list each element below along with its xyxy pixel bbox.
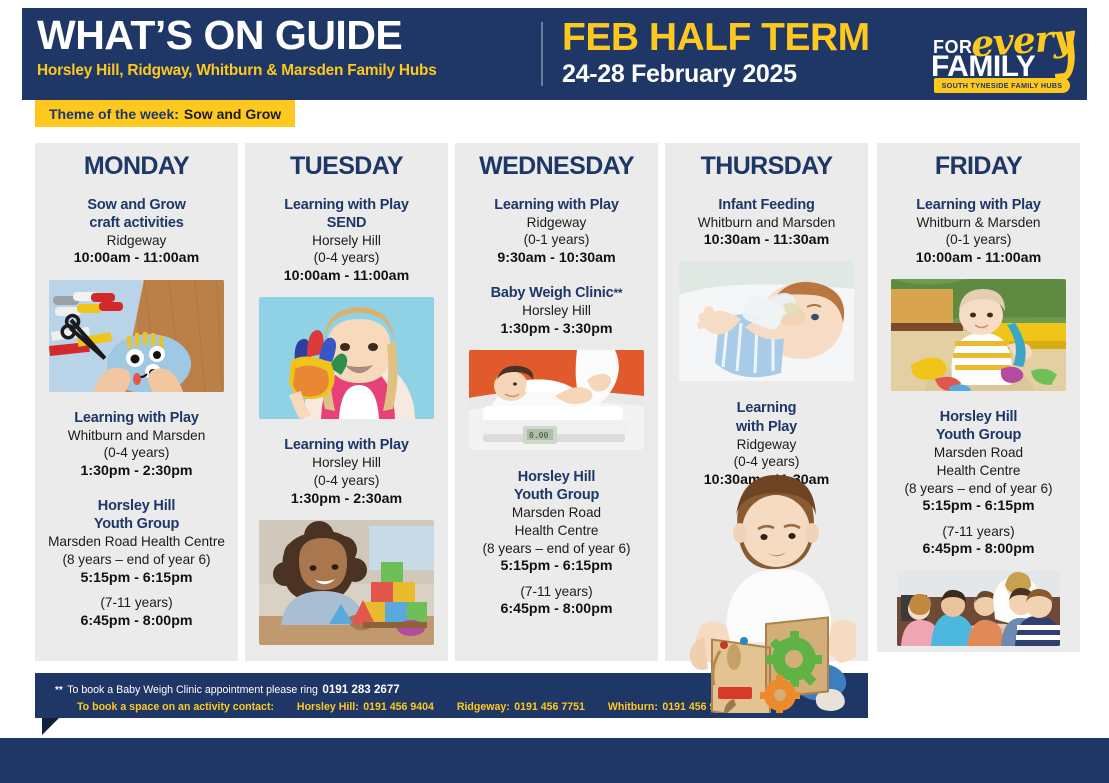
footer-line1-text: To book a Baby Weigh Clinic appointment … bbox=[67, 684, 318, 696]
event-time-2: 6:45pm - 8:00pm bbox=[41, 612, 232, 631]
theme-value: Sow and Grow bbox=[184, 106, 281, 122]
event-ages: (0-4 years) bbox=[251, 472, 442, 490]
day-column-thursday: THURSDAY Infant Feeding Whitburn and Mar… bbox=[665, 143, 868, 661]
event-ages: (0-1 years) bbox=[883, 231, 1074, 249]
event-venue: Horsley Hill bbox=[251, 454, 442, 472]
header-term-block: FEB HALF TERM 24-28 February 2025 bbox=[562, 18, 870, 89]
event-time-2: 6:45pm - 8:00pm bbox=[461, 600, 652, 619]
event-title: Learning with Play bbox=[251, 436, 442, 454]
footnote-marker: ** bbox=[613, 286, 622, 300]
photo-thursday-bottle-feeding bbox=[679, 261, 854, 381]
logo-ribbon-text: SOUTH TYNESIDE FAMILY HUBS bbox=[934, 78, 1070, 93]
event-time: 10:00am - 11:00am bbox=[883, 249, 1074, 268]
event-time: 1:30pm - 3:30pm bbox=[461, 320, 652, 339]
event-wednesday-3: Horsley HillYouth Group Marsden RoadHeal… bbox=[455, 468, 658, 619]
event-thursday-1: Infant Feeding Whitburn and Marsden 10:3… bbox=[665, 196, 868, 251]
day-column-monday: MONDAY Sow and Growcraft activities Ridg… bbox=[35, 143, 238, 661]
photo-tuesday-painted-hands bbox=[259, 297, 434, 419]
day-heading-thursday: THURSDAY bbox=[665, 153, 868, 181]
contact-name-whitburn: Whitburn: bbox=[608, 701, 658, 713]
event-time-2: 6:45pm - 8:00pm bbox=[883, 540, 1074, 559]
event-monday-3: Horsley HillYouth Group Marsden Road Hea… bbox=[35, 497, 238, 631]
event-tuesday-2: Learning with Play Horsley Hill (0-4 yea… bbox=[245, 436, 448, 509]
photo-friday-board-game bbox=[897, 571, 1060, 646]
footer-line-2: To book a space on an activity contact: … bbox=[77, 697, 733, 715]
photo-monday-craft bbox=[49, 280, 224, 392]
day-heading-tuesday: TUESDAY bbox=[245, 153, 448, 181]
event-venue: Ridgeway bbox=[461, 214, 652, 232]
event-venue: Whitburn & Marsden bbox=[883, 214, 1074, 232]
weekly-schedule-grid: MONDAY Sow and Growcraft activities Ridg… bbox=[0, 143, 1109, 673]
event-friday-2: Horsley HillYouth Group Marsden RoadHeal… bbox=[877, 408, 1080, 559]
photo-wednesday-baby-scale: 0.00 bbox=[469, 350, 644, 450]
event-venue: Marsden RoadHealth Centre bbox=[461, 504, 652, 539]
contact-phone-horsley-hill[interactable]: 0191 456 9404 bbox=[363, 701, 434, 713]
event-venue: Horsely Hill bbox=[251, 232, 442, 250]
event-time: 10:30am - 11:30am bbox=[671, 471, 862, 490]
theme-of-the-week-banner: Theme of the week: Sow and Grow bbox=[35, 100, 295, 127]
footer-contact-label: To book a space on an activity contact: bbox=[77, 701, 274, 713]
event-time: 10:30am - 11:30am bbox=[671, 231, 862, 250]
event-tuesday-1: Learning with PlaySEND Horsely Hill (0-4… bbox=[245, 196, 448, 287]
day-column-friday: FRIDAY Learning with Play Whitburn & Mar… bbox=[877, 143, 1080, 652]
poster-header: WHAT’S ON GUIDE Horsley Hill, Ridgway, W… bbox=[22, 8, 1087, 100]
term-dates: 24-28 February 2025 bbox=[562, 60, 870, 89]
term-title: FEB HALF TERM bbox=[562, 18, 870, 58]
event-venue: Marsden RoadHealth Centre bbox=[883, 444, 1074, 479]
footnote-marker: ** bbox=[55, 685, 63, 696]
event-title: Learning with Play bbox=[41, 409, 232, 427]
event-title: Sow and Growcraft activities bbox=[41, 196, 232, 232]
event-title: Learning with PlaySEND bbox=[251, 196, 442, 232]
event-time: 10:00am - 11:00am bbox=[251, 267, 442, 286]
event-time: 10:00am - 11:00am bbox=[41, 249, 232, 268]
day-heading-monday: MONDAY bbox=[35, 153, 238, 181]
event-time: 5:15pm - 6:15pm bbox=[41, 569, 232, 588]
header-left-block: WHAT’S ON GUIDE Horsley Hill, Ridgway, W… bbox=[37, 14, 532, 80]
event-ages: (0-4 years) bbox=[41, 444, 232, 462]
event-title: Learning with Play bbox=[461, 196, 652, 214]
header-subtitle: Horsley Hill, Ridgway, Whitburn & Marsde… bbox=[37, 62, 532, 80]
folded-corner-decoration bbox=[42, 718, 59, 735]
event-time: 5:15pm - 6:15pm bbox=[883, 497, 1074, 516]
event-ages-2: (7-11 years) bbox=[41, 594, 232, 612]
svg-text:0.00: 0.00 bbox=[529, 431, 548, 440]
contact-name-horsley-hill: Horsley Hill: bbox=[297, 701, 359, 713]
contact-name-ridgeway: Ridgeway: bbox=[457, 701, 510, 713]
event-thursday-2: Learningwith Play Ridgeway (0-4 years) 1… bbox=[665, 399, 868, 490]
event-title: Infant Feeding bbox=[671, 196, 862, 214]
event-title-text: Baby Weigh Clinic bbox=[491, 285, 614, 301]
baby-weigh-phone[interactable]: 0191 283 2677 bbox=[322, 683, 399, 696]
event-venue: Marsden Road Health Centre bbox=[41, 533, 232, 551]
event-time: 5:15pm - 6:15pm bbox=[461, 557, 652, 576]
theme-label: Theme of the week: bbox=[49, 106, 179, 122]
event-ages: (8 years – end of year 6) bbox=[883, 480, 1074, 498]
day-column-tuesday: TUESDAY Learning with PlaySEND Horsely H… bbox=[245, 143, 448, 661]
event-venue: Whitburn and Marsden bbox=[671, 214, 862, 232]
footer-line-1: ** To book a Baby Weigh Clinic appointme… bbox=[55, 680, 400, 698]
event-title: Learningwith Play bbox=[671, 399, 862, 435]
event-monday-1: Sow and Growcraft activities Ridgeway 10… bbox=[35, 196, 238, 269]
event-time: 9:30am - 10:30am bbox=[461, 249, 652, 268]
booking-info-footer: ** To book a Baby Weigh Clinic appointme… bbox=[35, 673, 868, 718]
for-every-family-logo: FOR every FAMILY SOUTH TYNESIDE FAMILY H… bbox=[927, 18, 1077, 94]
event-ages: (0-1 years) bbox=[461, 231, 652, 249]
event-wednesday-1: Learning with Play Ridgeway (0-1 years) … bbox=[455, 196, 658, 269]
event-time: 1:30pm - 2:30pm bbox=[41, 462, 232, 481]
event-venue: Ridgeway bbox=[41, 232, 232, 250]
event-venue: Horsley Hill bbox=[461, 302, 652, 320]
bottom-navy-band bbox=[0, 738, 1109, 783]
event-wednesday-2: Baby Weigh Clinic** Horsley Hill 1:30pm … bbox=[455, 284, 658, 339]
contact-phone-whitburn[interactable]: 0191 456 9404 bbox=[662, 701, 733, 713]
day-heading-wednesday: WEDNESDAY bbox=[455, 153, 658, 181]
event-title: Horsley HillYouth Group bbox=[41, 497, 232, 533]
photo-tuesday-blocks bbox=[259, 520, 434, 645]
day-heading-friday: FRIDAY bbox=[877, 153, 1080, 181]
contact-phone-ridgeway[interactable]: 0191 456 7751 bbox=[514, 701, 585, 713]
event-ages: (0-4 years) bbox=[671, 453, 862, 471]
event-title: Baby Weigh Clinic** bbox=[461, 284, 652, 302]
event-ages: (8 years – end of year 6) bbox=[461, 540, 652, 558]
event-time: 1:30pm - 2:30am bbox=[251, 490, 442, 509]
whats-on-guide-poster: WHAT’S ON GUIDE Horsley Hill, Ridgway, W… bbox=[0, 0, 1109, 783]
event-title: Horsley HillYouth Group bbox=[461, 468, 652, 504]
page-title: WHAT’S ON GUIDE bbox=[37, 14, 532, 57]
logo-swoosh-icon bbox=[1051, 31, 1078, 81]
photo-friday-sandpit bbox=[891, 279, 1066, 391]
event-title: Learning with Play bbox=[883, 196, 1074, 214]
event-ages: (0-4 years) bbox=[251, 249, 442, 267]
event-monday-2: Learning with Play Whitburn and Marsden … bbox=[35, 409, 238, 482]
event-ages-2: (7-11 years) bbox=[883, 523, 1074, 541]
header-divider bbox=[541, 22, 543, 86]
event-ages-2: (7-11 years) bbox=[461, 583, 652, 601]
event-title: Horsley HillYouth Group bbox=[883, 408, 1074, 444]
event-ages: (8 years – end of year 6) bbox=[41, 551, 232, 569]
event-venue: Ridgeway bbox=[671, 436, 862, 454]
event-venue: Whitburn and Marsden bbox=[41, 427, 232, 445]
day-column-wednesday: WEDNESDAY Learning with Play Ridgeway (0… bbox=[455, 143, 658, 661]
event-friday-1: Learning with Play Whitburn & Marsden (0… bbox=[877, 196, 1080, 269]
